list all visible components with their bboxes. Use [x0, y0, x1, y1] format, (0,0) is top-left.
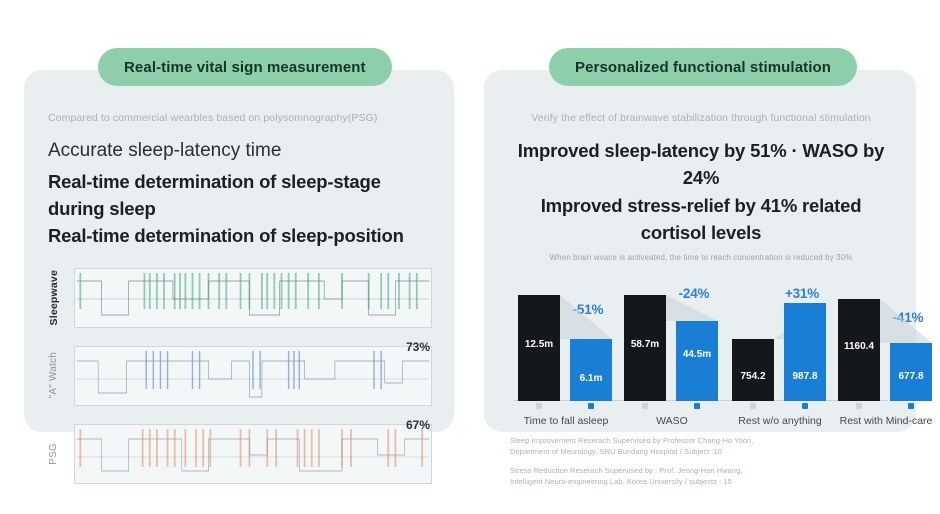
bar-mindcare-4: 677.8	[890, 343, 932, 401]
hypnogram-chart-psg	[75, 425, 431, 483]
bar-value-mindcare-4: 677.8	[890, 371, 932, 382]
tick-baseline-3	[750, 403, 756, 409]
bar-wedge-1	[560, 295, 612, 339]
bar-baseline-2: 58.7m	[624, 295, 666, 401]
bar-value-mindcare-1: 6.1m	[570, 373, 612, 384]
bar-value-baseline-3: 754.2	[732, 371, 774, 382]
bar-wedge-4	[880, 299, 932, 343]
hypnogram-label-a-watch: "A" Watch	[48, 352, 66, 398]
bar-value-mindcare-3: 987.8	[784, 371, 826, 382]
right-panel-note: When brain wvace is activeated, the time…	[508, 253, 894, 262]
bar-wedge-2	[666, 295, 718, 321]
stimulation-bar-chart: -51% 12.5m 6.1m	[508, 275, 894, 425]
hypnogram-plot-sleepwave	[74, 268, 432, 328]
footnote-block-1: Sleep Improvement Reserach Supervised by…	[510, 435, 894, 458]
hypnogram-label-psg: PSG	[48, 443, 66, 465]
bar-baseline-1: 12.5m	[518, 295, 560, 401]
hypnogram-accuracy-psg: 67%	[406, 418, 430, 432]
hypnogram-row-sleepwave: Sleepwave	[48, 266, 432, 330]
footnote-block-2: Stress Reduction Reserach Supervised by …	[510, 465, 894, 488]
right-headline-1: Improved sleep-latency by 51% · WASO by …	[508, 137, 894, 192]
hypnogram-group: Sleepwave	[48, 266, 432, 486]
bar-delta-3: +31%	[762, 286, 842, 301]
category-label-1: Time to fall asleep	[524, 415, 609, 427]
left-bullet-2: Real-time determination of sleep-stage d…	[48, 168, 432, 223]
slide-stage: Real-time vital sign measurement Compare…	[0, 0, 940, 469]
right-panel-body: Verify the effect of brainwave stabiliza…	[484, 70, 916, 509]
bar-mindcare-1: 6.1m	[570, 339, 612, 401]
hypnogram-row-a-watch: "A" Watch	[48, 344, 432, 408]
right-panel: Personalized functional stimulation Veri…	[484, 70, 916, 432]
category-label-3: Rest w/o anything	[738, 415, 821, 427]
footnote-2-line-1: Stress Reduction Reserach Supervised by …	[510, 465, 894, 477]
bar-mindcare-3: 987.8	[784, 303, 826, 401]
bar-value-baseline-4: 1160.4	[838, 341, 880, 352]
bar-baseline-4: 1160.4	[838, 299, 880, 401]
hypnogram-chart-a-watch	[75, 347, 431, 405]
bar-mindcare-2: 44.5m	[676, 321, 718, 401]
footnote-2-line-2: Intelligent Neuro-engineering Lab. Korea…	[510, 476, 894, 488]
tick-mindcare-2	[694, 403, 700, 409]
bar-baseline-3: 754.2	[732, 339, 774, 401]
bar-value-baseline-2: 58.7m	[624, 339, 666, 350]
hypnogram-accuracy-a-watch: 73%	[406, 340, 430, 354]
footnote-1-line-2: Department of Meurology, SNU Bundang Hos…	[510, 446, 894, 458]
tick-mindcare-3	[802, 403, 808, 409]
hypnogram-chart-sleepwave	[75, 269, 431, 327]
footnote-1-line-1: Sleep Improvement Reserach Supervised by…	[510, 435, 894, 447]
category-label-4: Rest with Mind-care	[840, 415, 933, 427]
tick-mindcare-4	[908, 403, 914, 409]
tick-baseline-2	[642, 403, 648, 409]
bar-chart-category-labels: Time to fall asleep WASO Rest w/o anythi…	[514, 415, 888, 431]
left-panel-body: Compared to commercial wearbles based on…	[24, 70, 454, 514]
hypnogram-label-sleepwave: Sleepwave	[48, 270, 66, 326]
bar-chart-plot: -51% 12.5m 6.1m	[514, 275, 888, 401]
bar-value-baseline-1: 12.5m	[518, 339, 560, 350]
right-panel-title-pill: Personalized functional stimulation	[549, 48, 857, 86]
hypnogram-plot-a-watch	[74, 346, 432, 406]
category-label-2: WASO	[656, 415, 688, 427]
left-bullet-3: Real-time determination of sleep-positio…	[48, 222, 432, 249]
left-panel: Real-time vital sign measurement Compare…	[24, 70, 454, 432]
right-headline-2: Improved stress-relief by 41% related co…	[508, 192, 894, 247]
footnotes: Sleep Improvement Reserach Supervised by…	[508, 435, 894, 489]
hypnogram-row-psg: PSG	[48, 422, 432, 486]
tick-mindcare-1	[588, 403, 594, 409]
left-bullet-1: Accurate sleep-latency time	[48, 137, 432, 166]
bar-value-mindcare-2: 44.5m	[676, 349, 718, 360]
hypnogram-plot-psg	[74, 424, 432, 484]
tick-baseline-4	[856, 403, 862, 409]
left-panel-subtitle: Compared to commercial wearbles based on…	[48, 112, 432, 124]
tick-baseline-1	[536, 403, 542, 409]
left-panel-title-pill: Real-time vital sign measurement	[98, 48, 392, 86]
right-panel-subtitle: Verify the effect of brainwave stabiliza…	[508, 112, 894, 124]
